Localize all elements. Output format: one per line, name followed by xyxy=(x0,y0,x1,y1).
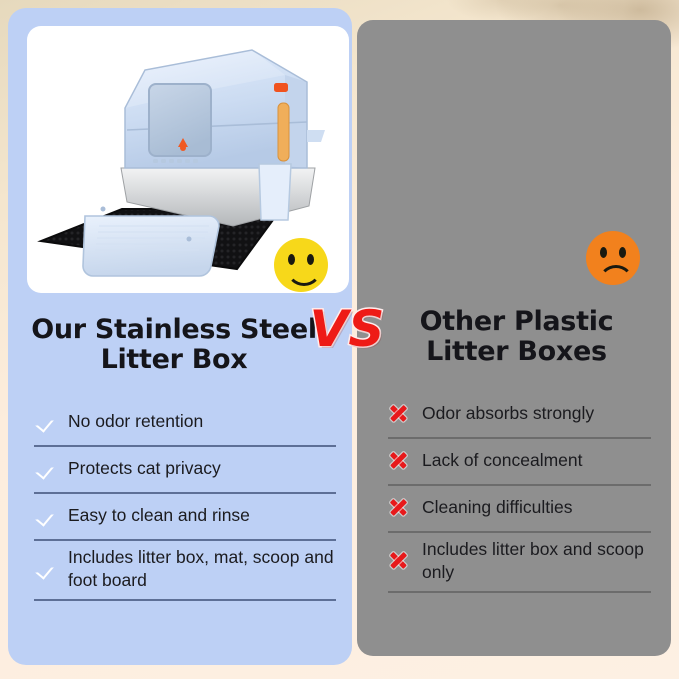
red-x-icon xyxy=(388,497,410,519)
feature-label: Protects cat privacy xyxy=(68,457,221,480)
green-check-icon xyxy=(34,505,56,527)
list-item: Easy to clean and rinse xyxy=(34,494,336,541)
left-comparison-panel: Our Stainless Steel Litter Box No odor r… xyxy=(8,8,352,665)
right-title-line-2: Litter Boxes xyxy=(374,337,659,367)
right-feature-list: Odor absorbs strongly Lack of concealmen… xyxy=(388,392,651,593)
list-item: Includes litter box and scoop only xyxy=(388,533,651,593)
right-comparison-panel: Other Plastic Litter Boxes Odor absorbs … xyxy=(357,20,671,656)
feature-label: Includes litter box, mat, scoop and foot… xyxy=(68,546,336,593)
smiley-sad-icon xyxy=(586,231,640,285)
right-title-line-1: Other Plastic xyxy=(374,307,659,337)
mouth-frown xyxy=(598,265,634,287)
green-check-icon xyxy=(34,558,56,580)
mouth-smile xyxy=(286,264,322,286)
left-feature-list: No odor retention Protects cat privacy E… xyxy=(34,400,336,601)
feature-label: Cleaning difficulties xyxy=(422,496,572,519)
feature-label: Odor absorbs strongly xyxy=(422,402,594,425)
list-item: No odor retention xyxy=(34,400,336,447)
red-x-icon xyxy=(388,403,410,425)
green-check-icon xyxy=(34,458,56,480)
versus-badge: VS xyxy=(307,300,387,360)
green-check-icon xyxy=(34,411,56,433)
left-panel-title: Our Stainless Steel Litter Box xyxy=(24,315,324,375)
feature-label: Lack of concealment xyxy=(422,449,583,472)
right-panel-title: Other Plastic Litter Boxes xyxy=(374,307,659,367)
eye-left xyxy=(600,247,607,258)
left-title-line-2: Litter Box xyxy=(24,345,324,375)
feature-label: Easy to clean and rinse xyxy=(68,504,250,527)
red-x-icon xyxy=(388,450,410,472)
list-item: Cleaning difficulties xyxy=(388,486,651,533)
list-item: Odor absorbs strongly xyxy=(388,392,651,439)
list-item: Includes litter box, mat, scoop and foot… xyxy=(34,541,336,601)
eye-right xyxy=(619,247,626,258)
comparison-infographic: Our Stainless Steel Litter Box No odor r… xyxy=(0,0,679,679)
left-title-line-1: Our Stainless Steel xyxy=(24,315,324,345)
smiley-happy-icon xyxy=(274,238,328,292)
feature-label: Includes litter box and scoop only xyxy=(422,538,651,585)
list-item: Protects cat privacy xyxy=(34,447,336,494)
feature-label: No odor retention xyxy=(68,410,203,433)
list-item: Lack of concealment xyxy=(388,439,651,486)
red-x-icon xyxy=(388,550,410,572)
